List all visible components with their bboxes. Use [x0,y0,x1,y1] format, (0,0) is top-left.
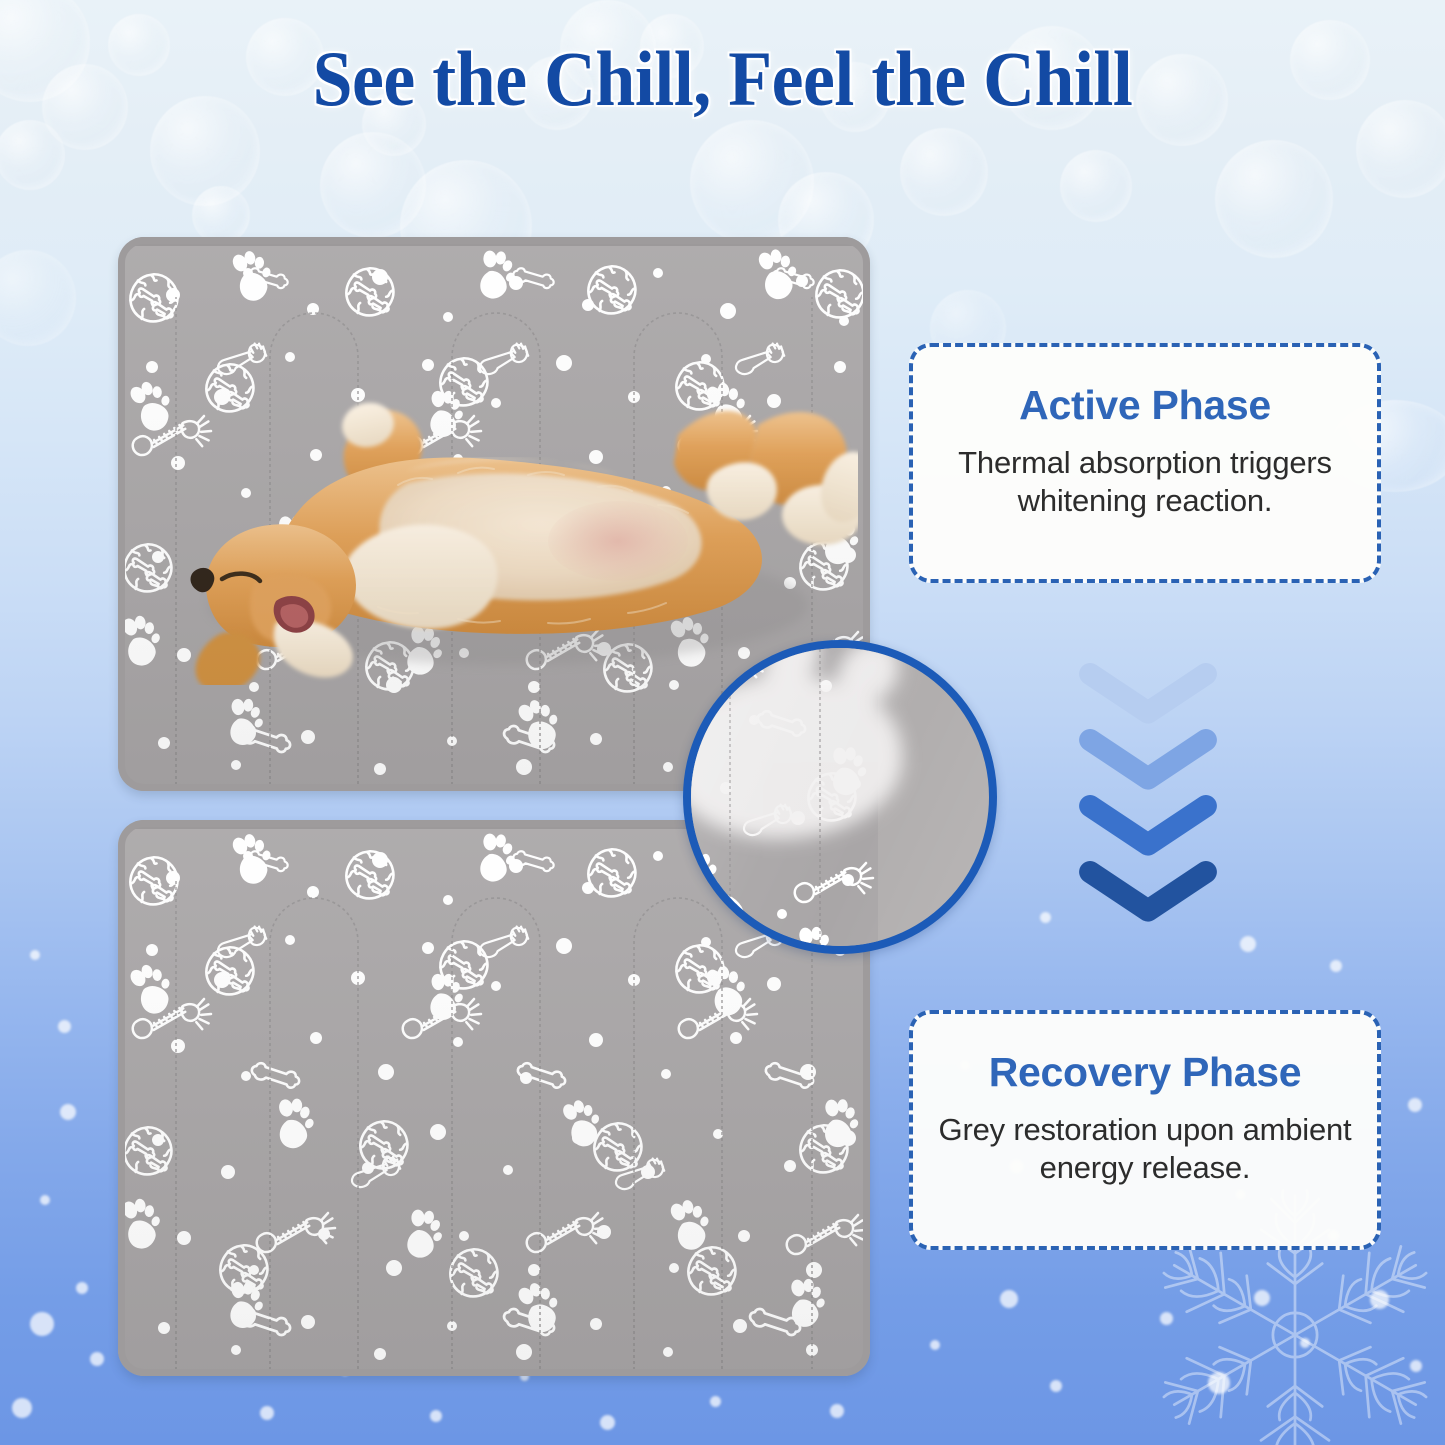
zoom-detail-content [683,640,878,954]
info-card-active-phase: Active Phase Thermal absorption triggers… [909,343,1381,583]
card-body-active: Thermal absorption triggers whitening re… [935,444,1355,520]
zoom-mat-pattern [683,640,878,954]
infographic-canvas: See the Chill, Feel the Chill [0,0,1445,1445]
zoom-detail-circle [683,640,997,954]
chevron-down-icon [1078,795,1218,857]
card-title-active: Active Phase [935,385,1355,426]
flow-arrow-group [1078,663,1218,925]
chevron-down-icon [1078,861,1218,923]
chevron-down-icon [1078,729,1218,791]
page-title: See the Chill, Feel the Chill [58,34,1387,124]
chevron-down-icon [1078,663,1218,725]
info-card-recovery-phase: Recovery Phase Grey restoration upon amb… [909,1010,1381,1250]
card-body-recovery: Grey restoration upon ambient energy rel… [935,1111,1355,1187]
card-title-recovery: Recovery Phase [935,1052,1355,1093]
